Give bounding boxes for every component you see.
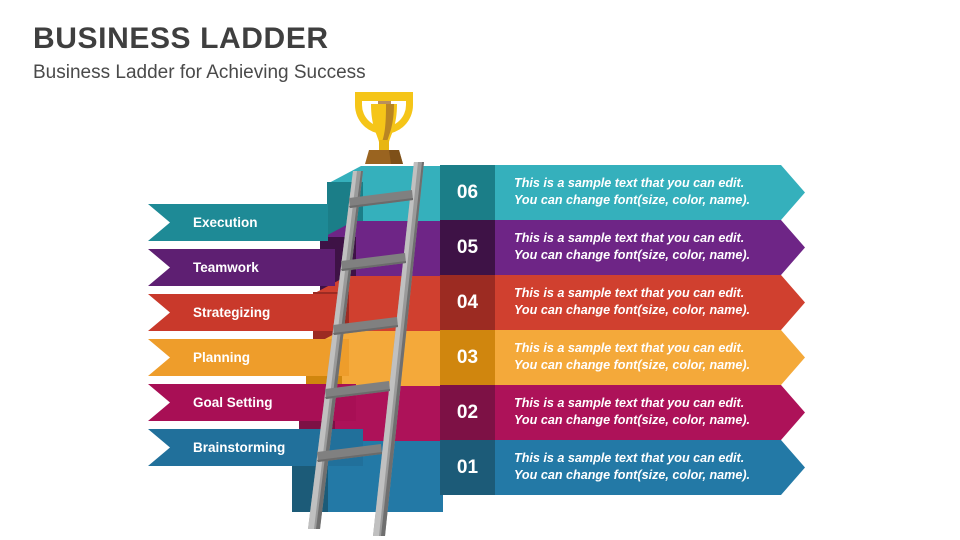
step-label-teamwork[interactable]: Teamwork <box>148 249 335 286</box>
page-subtitle: Business Ladder for Achieving Success <box>33 62 366 84</box>
description-line-1: This is a sample text that you can edit. <box>514 230 805 247</box>
step-description-05[interactable]: This is a sample text that you can edit.… <box>495 220 805 275</box>
description-line-2: You can change font(size, color, name). <box>514 467 805 484</box>
step-label-text: Goal Setting <box>193 395 273 410</box>
step-label-text: Strategizing <box>193 305 270 320</box>
description-line-2: You can change font(size, color, name). <box>514 247 805 264</box>
step-description-03[interactable]: This is a sample text that you can edit.… <box>495 330 805 385</box>
page-title: BUSINESS LADDER <box>33 22 329 56</box>
description-line-2: You can change font(size, color, name). <box>514 412 805 429</box>
step-label-text: Execution <box>193 215 258 230</box>
step-number-text: 03 <box>457 347 478 368</box>
step-number-text: 04 <box>457 292 478 313</box>
step-description-04[interactable]: This is a sample text that you can edit.… <box>495 275 805 330</box>
description-line-1: This is a sample text that you can edit. <box>514 340 805 357</box>
step-label-planning[interactable]: Planning <box>148 339 349 376</box>
step-label-goal-setting[interactable]: Goal Setting <box>148 384 356 421</box>
step-number-text: 05 <box>457 237 478 258</box>
description-line-2: You can change font(size, color, name). <box>514 192 805 209</box>
step-label-strategizing[interactable]: Strategizing <box>148 294 342 331</box>
trophy-icon <box>349 88 419 176</box>
step-number-text: 01 <box>457 457 478 478</box>
step-label-text: Planning <box>193 350 250 365</box>
step-label-execution[interactable]: Execution <box>148 204 328 241</box>
infographic-canvas: BUSINESS LADDER Business Ladder for Achi… <box>0 0 960 540</box>
description-line-1: This is a sample text that you can edit. <box>514 395 805 412</box>
step-number-02: 02 <box>440 385 495 440</box>
step-number-text: 02 <box>457 402 478 423</box>
description-line-1: This is a sample text that you can edit. <box>514 285 805 302</box>
step-number-03: 03 <box>440 330 495 385</box>
step-description-06[interactable]: This is a sample text that you can edit.… <box>495 165 805 220</box>
step-label-brainstorming[interactable]: Brainstorming <box>148 429 363 466</box>
step-number-05: 05 <box>440 220 495 275</box>
step-number-01: 01 <box>440 440 495 495</box>
step-number-text: 06 <box>457 182 478 203</box>
step-label-text: Brainstorming <box>193 440 285 455</box>
description-line-1: This is a sample text that you can edit. <box>514 450 805 467</box>
step-description-02[interactable]: This is a sample text that you can edit.… <box>495 385 805 440</box>
step-number-04: 04 <box>440 275 495 330</box>
step-label-text: Teamwork <box>193 260 259 275</box>
description-line-2: You can change font(size, color, name). <box>514 302 805 319</box>
description-line-2: You can change font(size, color, name). <box>514 357 805 374</box>
description-line-1: This is a sample text that you can edit. <box>514 175 805 192</box>
step-number-06: 06 <box>440 165 495 220</box>
step-description-01[interactable]: This is a sample text that you can edit.… <box>495 440 805 495</box>
